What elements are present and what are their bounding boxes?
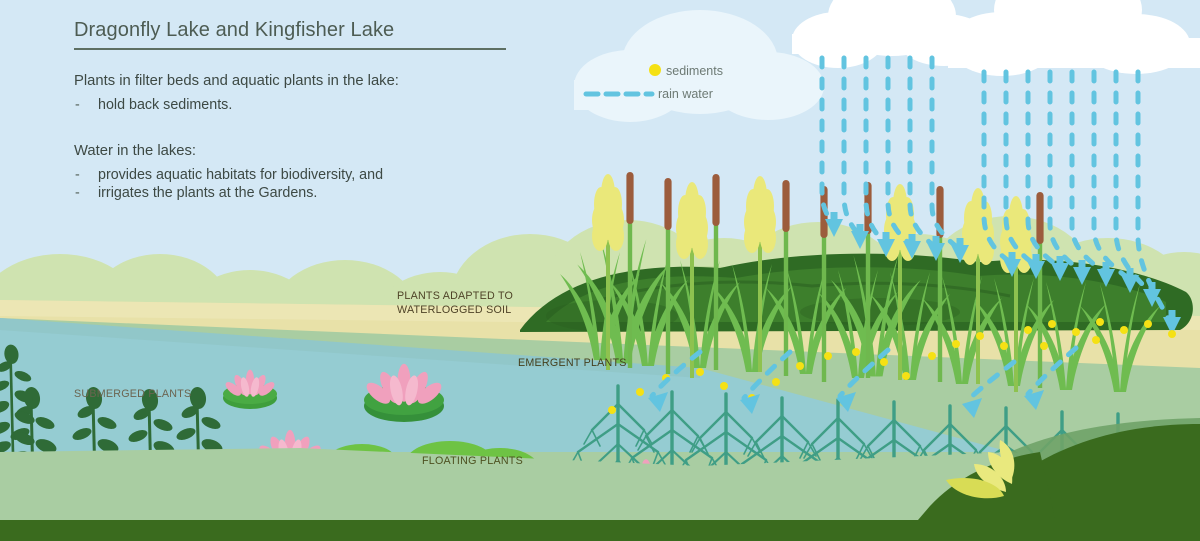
page-title: Dragonfly Lake and Kingfisher Lake bbox=[74, 19, 394, 42]
label-plants-adapted-to-waterlogged-soil: PLANTS ADAPTED TO WATERLOGGED SOIL bbox=[397, 290, 513, 317]
legend-label-sediments: sediments bbox=[666, 64, 723, 78]
bullet-dash: - bbox=[75, 168, 80, 182]
paragraph-gap bbox=[74, 116, 544, 144]
legend-sediment-dot-icon bbox=[649, 64, 661, 76]
body-bullet-2-0: - provides aquatic habitats for biodiver… bbox=[74, 168, 544, 182]
label-floating-plants: FLOATING PLANTS bbox=[422, 455, 523, 467]
title-divider bbox=[74, 48, 506, 50]
bullet-text: irrigates the plants at the Gardens. bbox=[98, 185, 317, 201]
bullet-text: provides aquatic habitats for biodiversi… bbox=[98, 167, 383, 183]
label-submerged-plants: SUBMERGED PLANTS bbox=[74, 388, 191, 400]
bullet-text: hold back sediments. bbox=[98, 97, 232, 113]
body-heading-2: Water in the lakes: bbox=[74, 144, 544, 159]
body-bullet-2-1: - irrigates the plants at the Gardens. bbox=[74, 186, 544, 200]
bottom-strip bbox=[0, 520, 1200, 541]
body-heading-1: Plants in filter beds and aquatic plants… bbox=[74, 74, 544, 89]
label-waterlogged-line-2: WATERLOGGED SOIL bbox=[397, 304, 513, 318]
body-bullet-1-0: - hold back sediments. bbox=[74, 98, 544, 112]
label-waterlogged-line-1: PLANTS ADAPTED TO bbox=[397, 290, 513, 304]
infographic-scene: Dragonfly Lake and Kingfisher Lake Plant… bbox=[0, 0, 1200, 541]
legend-label-rain-water: rain water bbox=[658, 87, 713, 101]
body-text-block: Plants in filter beds and aquatic plants… bbox=[74, 74, 544, 204]
bullet-dash: - bbox=[75, 98, 80, 112]
bullet-dash: - bbox=[75, 186, 80, 200]
label-emergent-plants: EMERGENT PLANTS bbox=[518, 357, 627, 369]
